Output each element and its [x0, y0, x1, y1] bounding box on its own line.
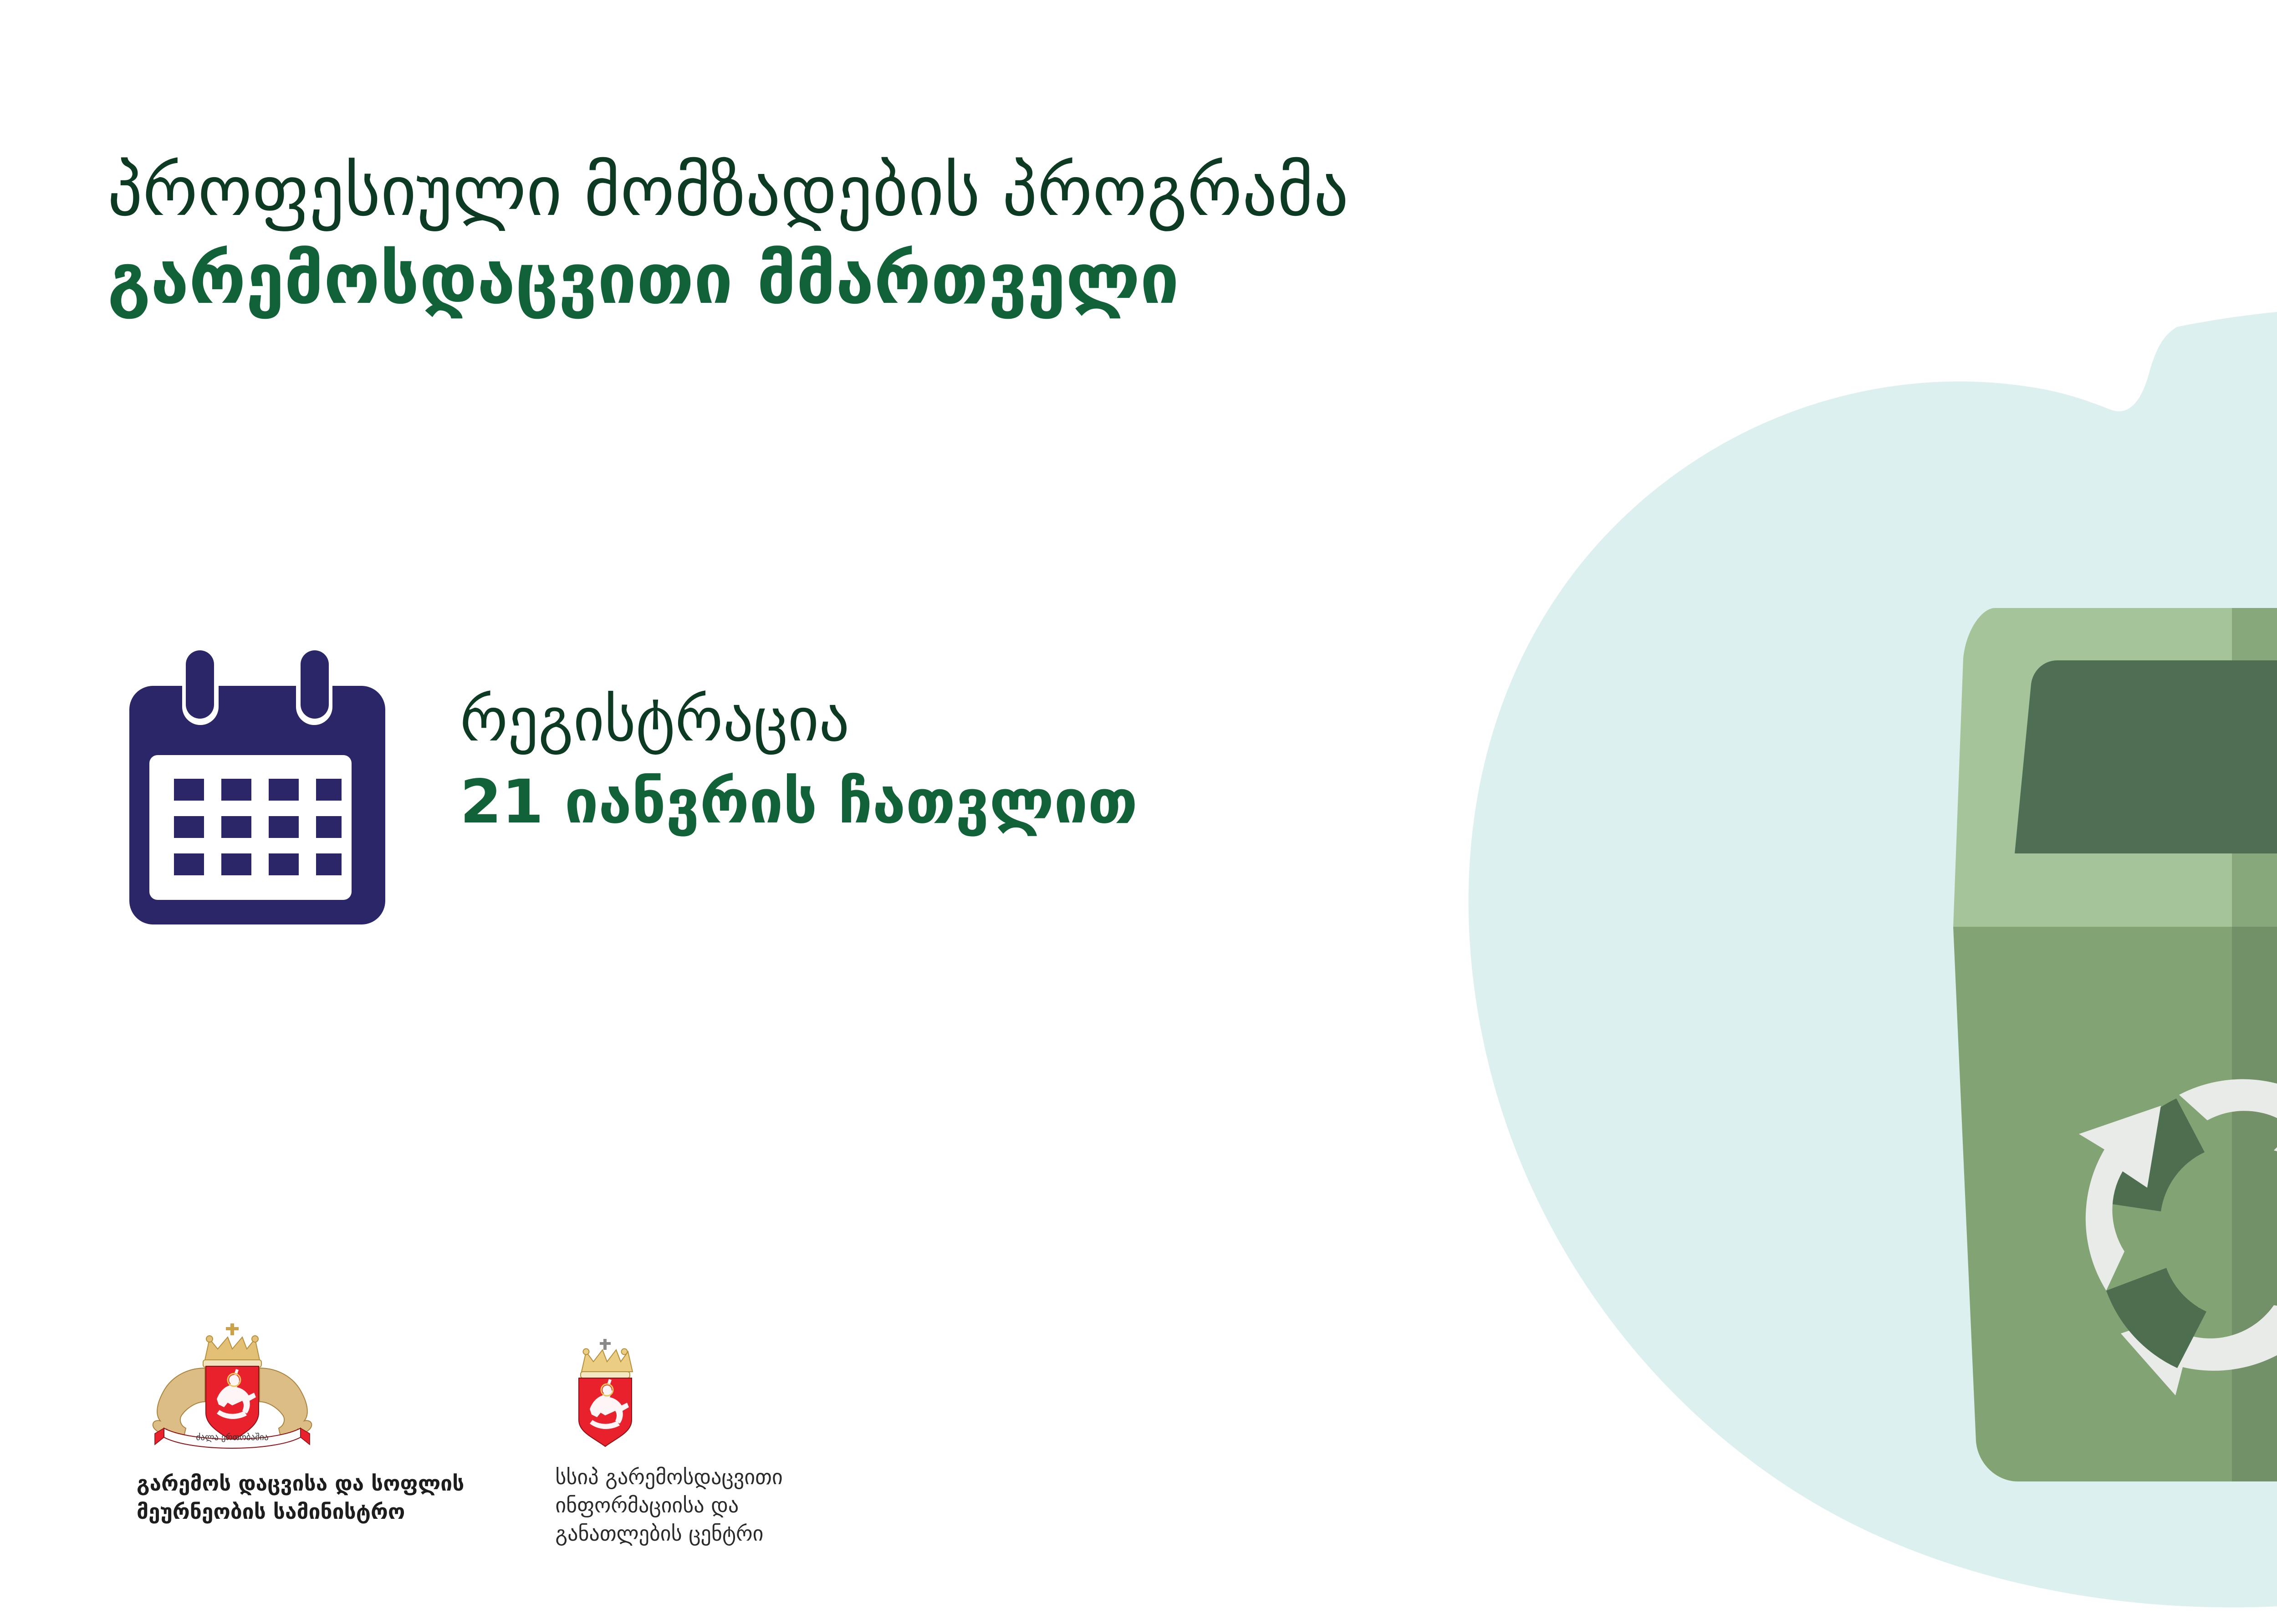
registration-deadline: 21 იანვრის ჩათვლით	[460, 766, 1138, 838]
bin-opening	[2015, 660, 2277, 853]
coat-of-arms-motto: ძალა ერთობაშია	[196, 1432, 268, 1442]
registration-text: რეგისტრაცია 21 იანვრის ჩათვლით	[460, 642, 1138, 838]
page-title: პროფესიული მომზადების პროგრამა გარემოსდა…	[107, 150, 2020, 320]
georgia-coat-of-arms-icon: ძალა ერთობაშია	[137, 1321, 328, 1457]
title-line-1: პროფესიული მომზადების პროგრამა	[107, 150, 2020, 232]
recycling-illustration	[1439, 273, 2277, 1624]
bin-body-right	[2232, 927, 2277, 1481]
centre-caption: სსიპ გარემოსდაცვითი ინფორმაციისა და განა…	[555, 1463, 782, 1547]
ministry-caption: გარემოს დაცვისა და სოფლის მეურნეობის სამ…	[137, 1469, 464, 1526]
georgia-shield-emblem-icon	[555, 1337, 655, 1451]
footer-logos: ძალა ერთობაშია გარემოს დაცვისა და სოფლის…	[137, 1321, 783, 1547]
calendar-icon	[114, 642, 387, 924]
ministry-logo-group: ძალა ერთობაშია გარემოს დაცვისა და სოფლის…	[137, 1321, 464, 1526]
title-line-2: გარემოსდაცვითი მმართველი	[107, 238, 2020, 320]
registration-label: რეგისტრაცია	[460, 684, 1138, 756]
registration-block: რეგისტრაცია 21 იანვრის ჩათვლით	[114, 642, 1138, 924]
poster-canvas: პროფესიული მომზადების პროგრამა გარემოსდა…	[0, 0, 2277, 1624]
centre-logo-group: სსიპ გარემოსდაცვითი ინფორმაციისა და განა…	[555, 1337, 782, 1547]
